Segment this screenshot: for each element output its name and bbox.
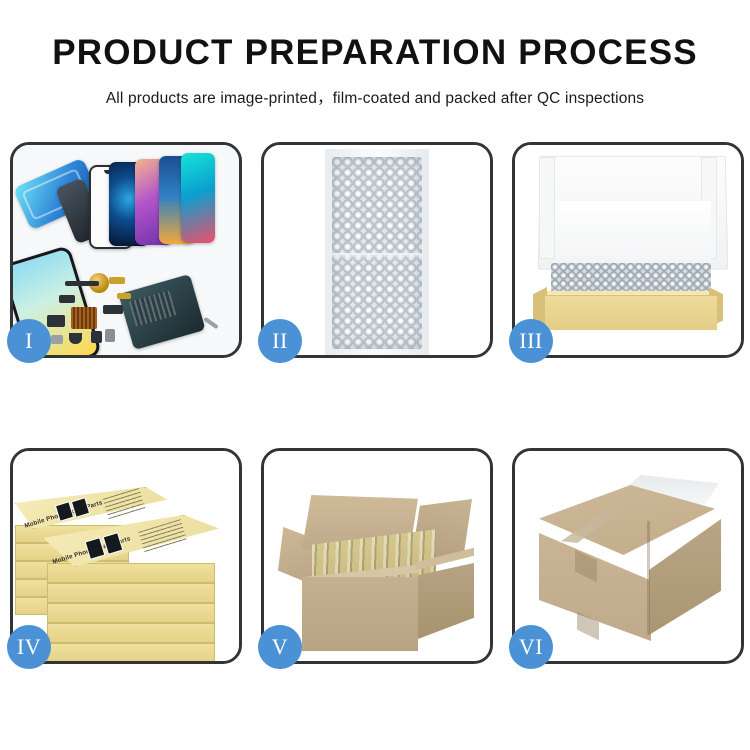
button-flex-part <box>117 293 131 299</box>
screw-set-part <box>51 335 63 344</box>
step-5-number-badge: V <box>258 625 302 669</box>
step-2-image <box>264 145 490 355</box>
earpiece-part <box>65 281 99 286</box>
step-1-number-badge: I <box>7 319 51 363</box>
vibrator-part <box>91 331 102 343</box>
step-6-image <box>515 451 741 661</box>
step-4-image: Mobile Phone Spare Parts Mobile Phone Sp… <box>13 451 239 661</box>
step-3-number-badge: III <box>509 319 553 363</box>
screwdriver-tool <box>203 317 218 329</box>
stacked-box-front-4 <box>47 623 215 643</box>
stacked-box-front-1 <box>47 563 215 583</box>
step-4-number-badge: IV <box>7 625 51 669</box>
page-subtitle: All products are image-printed，film-coat… <box>0 86 750 108</box>
sim-tray-part <box>105 329 115 342</box>
process-step-5: V <box>261 448 493 664</box>
process-step-2: II <box>261 142 493 358</box>
step-5-image <box>264 451 490 661</box>
stacked-box-front-3 <box>47 603 215 623</box>
step-1-image <box>13 145 239 355</box>
carton-front-face <box>302 577 418 651</box>
box-stack: Mobile Phone Spare Parts Mobile Phone Sp… <box>13 451 239 661</box>
stacked-box-front-5 <box>47 643 215 661</box>
sealed-carton-corner-seam <box>647 521 650 635</box>
taptic-engine-part <box>69 333 82 344</box>
carton-side-face <box>418 563 474 639</box>
process-steps-grid: I II III <box>10 142 745 664</box>
process-step-6: VI <box>512 448 744 664</box>
bubble-wrap-seam <box>331 253 423 259</box>
process-step-1: I <box>10 142 242 358</box>
mailer-box-front <box>545 295 717 330</box>
step-2-number-badge: II <box>258 319 302 363</box>
antenna-flex-part <box>103 305 123 314</box>
foam-insert <box>555 201 711 263</box>
stacked-box-front-2 <box>47 583 215 603</box>
bracket-part <box>47 315 65 327</box>
mailer-box-left-flap <box>539 157 555 259</box>
process-step-4: Mobile Phone Spare Parts Mobile Phone Sp… <box>10 448 242 664</box>
phone-logic-board-unit <box>118 274 205 350</box>
step-3-image <box>515 145 741 355</box>
page-header: PRODUCT PREPARATION PROCESS All products… <box>0 0 750 108</box>
connector-chip-part <box>71 307 97 329</box>
page-title: PRODUCT PREPARATION PROCESS <box>0 34 750 73</box>
phone-teal-gradient-screen <box>181 153 215 243</box>
flex-cable-part <box>109 277 125 284</box>
step-6-number-badge: VI <box>509 625 553 669</box>
camera-module-part <box>59 295 75 303</box>
process-step-3: III <box>512 142 744 358</box>
